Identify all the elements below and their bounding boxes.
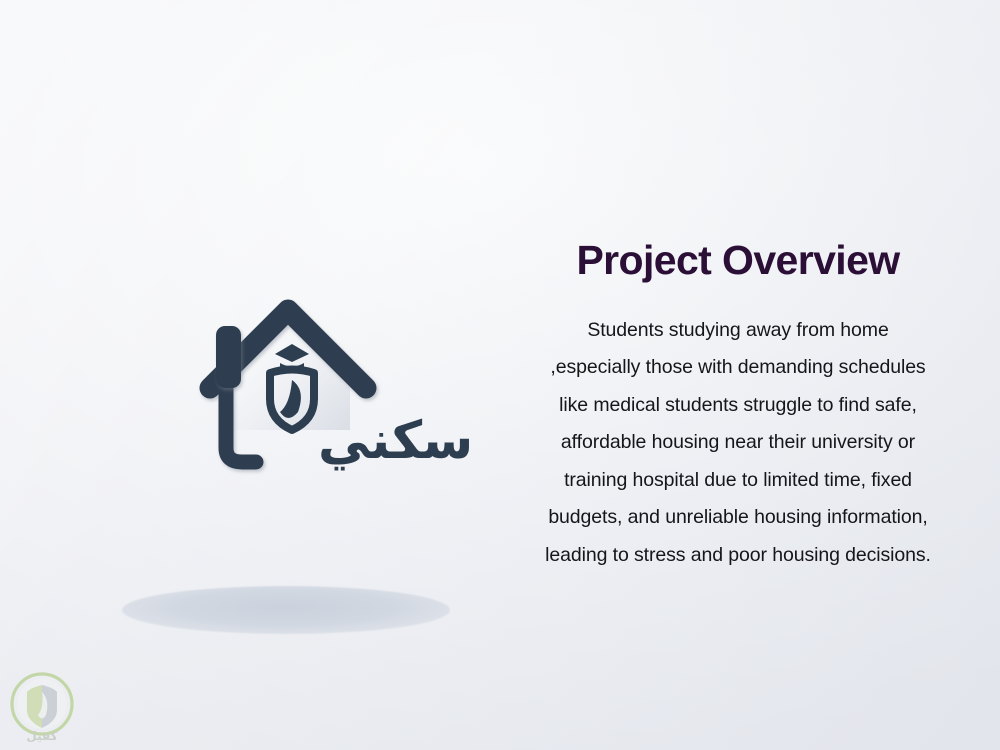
body-line: ,especially those with demanding schedul…	[488, 349, 988, 387]
body-line: Students studying away from home	[488, 312, 988, 350]
house-chimney	[216, 326, 241, 388]
body-line: leading to stress and poor housing decis…	[488, 537, 988, 575]
body-paragraph: Students studying away from home ,especi…	[488, 312, 988, 575]
copy-block: Project Overview Students studying away …	[488, 238, 988, 574]
kafeel-watermark: كفيل	[3, 668, 81, 746]
body-line: affordable housing near their university…	[488, 424, 988, 462]
sakani-logo: سكني	[170, 262, 420, 482]
body-line: budgets, and unreliable housing informat…	[488, 499, 988, 537]
body-line: like medical students struggle to find s…	[488, 387, 988, 425]
watermark-label: كفيل	[26, 729, 57, 743]
page-title: Project Overview	[488, 238, 988, 284]
slide-canvas: سكني Project Overview Students studying …	[0, 0, 1000, 750]
logo-wordmark-arabic: سكني	[318, 411, 473, 471]
logo-ground-shadow	[122, 586, 450, 634]
body-line: training hospital due to limited time, f…	[488, 462, 988, 500]
